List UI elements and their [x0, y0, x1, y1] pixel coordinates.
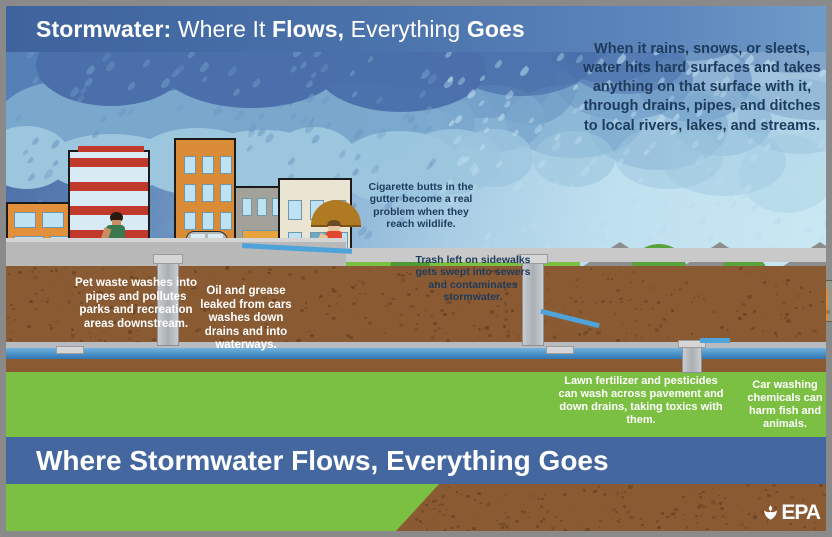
page-title: Stormwater: Where It Flows, Everything G… [6, 16, 525, 43]
bottom-banner: Where Stormwater Flows, Everything Goes [6, 437, 826, 484]
window [42, 212, 64, 228]
window [184, 156, 196, 174]
callout-cigarette-butts: Cigarette butts in the gutter become a r… [360, 181, 482, 231]
intro-paragraph: When it rains, snows, or sleets, water h… [582, 40, 822, 136]
storm-drain-pipe [682, 345, 702, 373]
window [257, 198, 267, 216]
window [202, 184, 214, 202]
title-word-flows: Flows, [272, 16, 344, 42]
epa-logo[interactable]: EPA [762, 502, 820, 523]
runoff-stream-carwash [700, 338, 730, 343]
underground-water [6, 348, 826, 359]
callout-car-washing: Car washing chemicals can harm fish and … [737, 379, 832, 431]
window [220, 184, 232, 202]
callout-oil-grease: Oil and grease leaked from cars washes d… [192, 285, 300, 353]
window [242, 198, 252, 216]
title-word-everything: Everything [344, 16, 467, 42]
window [202, 156, 214, 174]
infographic-canvas: Stormwater: Where It Flows, Everything G… [0, 0, 832, 537]
storm-drain-grate [546, 346, 574, 354]
callout-lawn-fertilizer: Lawn fertilizer and pesticides can wash … [555, 375, 727, 427]
title-word-stormwater: Stormwater: [36, 16, 171, 42]
window [220, 156, 232, 174]
bottom-banner-text: Where Stormwater Flows, Everything Goes [6, 445, 609, 477]
epa-flower-icon [762, 504, 779, 521]
soil-layer-lower [6, 359, 826, 372]
storm-drain-grate [153, 254, 183, 264]
window [202, 212, 214, 230]
window [288, 200, 302, 220]
window [184, 184, 196, 202]
title-word-whereit: Where It [171, 16, 272, 42]
city-curb [6, 238, 346, 242]
window [184, 212, 196, 230]
callout-pet-waste: Pet waste washes into pipes and pollutes… [72, 277, 200, 331]
title-word-goes: Goes [467, 16, 525, 42]
callout-trash-sidewalks: Trash left on sidewalks gets swept into … [412, 254, 534, 304]
storm-drain-grate [56, 346, 84, 354]
window [14, 212, 36, 228]
epa-logo-text: EPA [781, 502, 820, 523]
window [220, 212, 232, 230]
